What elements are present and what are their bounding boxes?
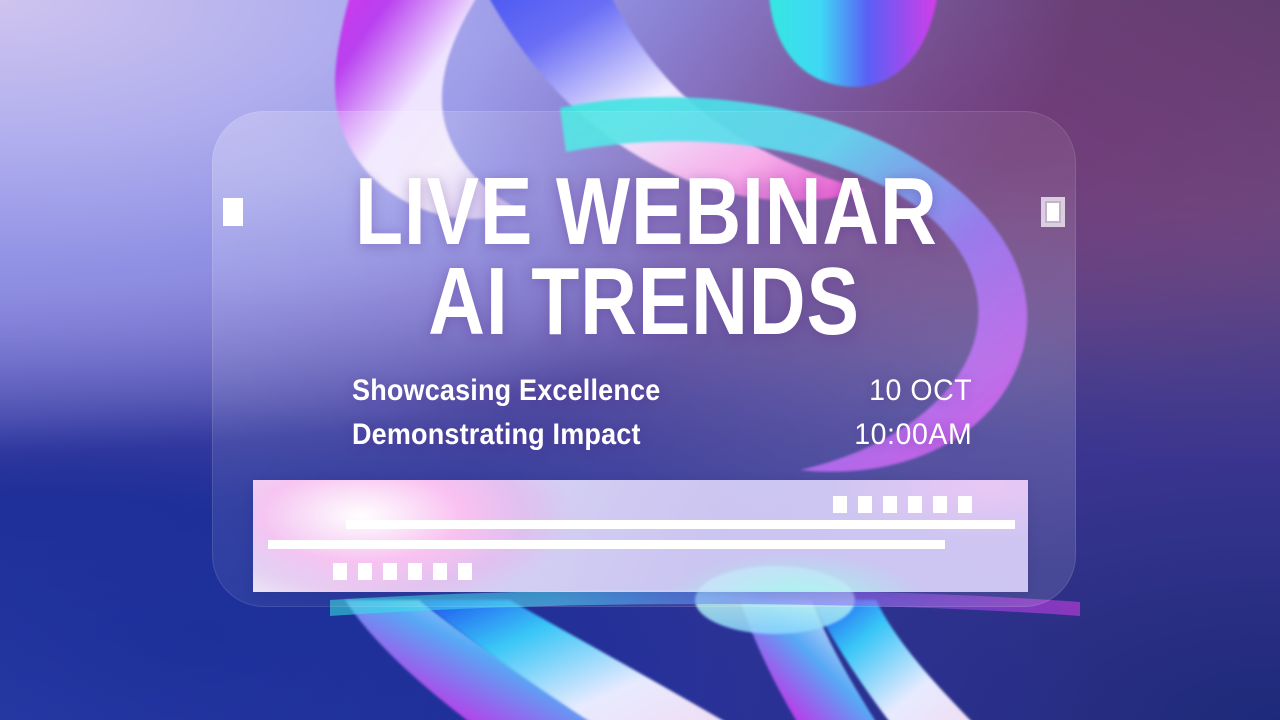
webinar-poster: LIVE WEBINAR AI TRENDS Showcasing Excell…	[0, 0, 1280, 720]
dot-row-top	[833, 496, 972, 513]
dot	[383, 563, 397, 580]
square-outline-marker-icon	[1041, 197, 1065, 227]
divider-bar-bottom	[268, 540, 945, 549]
schedule-block: 10 OCT 10:00AM	[848, 369, 972, 456]
dot	[358, 563, 372, 580]
tagline-line-1: Showcasing Excellence	[352, 369, 660, 413]
bottom-panel	[253, 480, 1028, 592]
square-marker-icon	[223, 198, 243, 226]
dot	[933, 496, 947, 513]
dot	[433, 563, 447, 580]
dot-row-bottom	[333, 563, 472, 580]
tagline-block: Showcasing Excellence Demonstrating Impa…	[352, 369, 695, 456]
dot	[908, 496, 922, 513]
tagline-line-2: Demonstrating Impact	[352, 413, 660, 457]
event-date: 10 OCT	[854, 369, 972, 413]
headline-row-1: LIVE WEBINAR	[212, 171, 1076, 254]
dot	[458, 563, 472, 580]
event-time: 10:00AM	[854, 413, 972, 457]
dot	[883, 496, 897, 513]
dot	[408, 563, 422, 580]
dot	[858, 496, 872, 513]
event-info: Showcasing Excellence Demonstrating Impa…	[352, 369, 972, 456]
headline-secondary: AI TRENDS	[290, 261, 998, 344]
headline-primary: LIVE WEBINAR	[355, 171, 938, 254]
dot	[333, 563, 347, 580]
dot	[958, 496, 972, 513]
dot	[833, 496, 847, 513]
divider-bar-top	[346, 520, 1015, 529]
